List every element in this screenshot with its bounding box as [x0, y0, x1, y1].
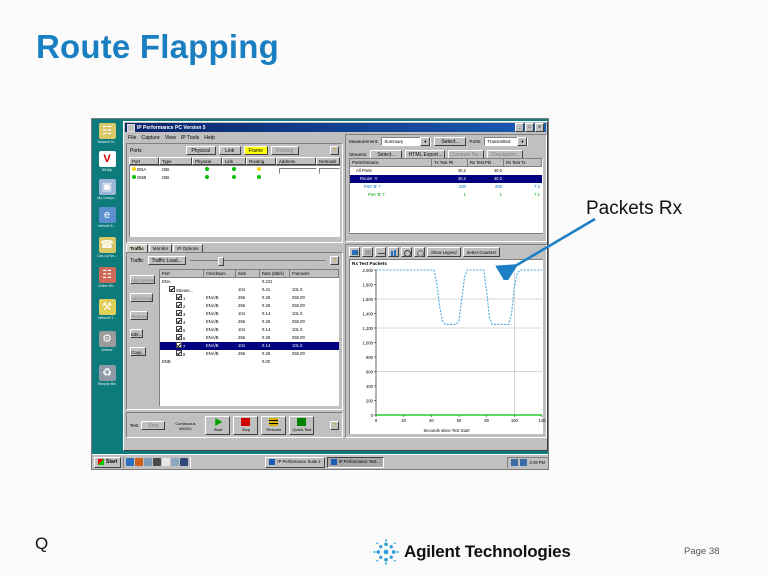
cell-rx: 1	[468, 191, 504, 199]
cell-checksum: ENA/B	[204, 342, 236, 350]
row-checkbox[interactable]	[176, 342, 182, 348]
svg-text:40: 40	[429, 418, 434, 423]
cell-tx: 40,2	[432, 167, 468, 175]
col-ports-streams[interactable]: Ports/Streams	[350, 159, 432, 167]
cell-rate: 0.28	[260, 294, 290, 302]
col-port[interactable]: Port	[129, 157, 159, 165]
ports-toolbar: Ports Physical Link Frame Routing ?	[127, 144, 342, 157]
svg-text:0: 0	[371, 413, 374, 418]
winzip-icon: V	[99, 151, 116, 167]
cell-checksum: ENA/B	[204, 294, 236, 302]
ie-icon[interactable]	[126, 458, 134, 466]
row-checkbox[interactable]	[176, 302, 182, 308]
col-rx-test-pkt[interactable]: Rx Test Pkt	[468, 159, 504, 167]
cell-rate: 0.28	[260, 302, 290, 310]
system-tray: 3:49 PM	[507, 457, 548, 468]
desktop-icon[interactable]: ▣ My Compu...	[95, 179, 119, 200]
desktop-icon[interactable]: ☷ Network N...	[95, 123, 119, 144]
test-state-button[interactable]: Stop	[141, 421, 165, 430]
traffic-toolbar: Traffic Traffic Load... ?	[127, 253, 342, 268]
cell-name: Port 'B' 7	[350, 191, 432, 199]
status-dot-physical	[205, 167, 209, 171]
cell-size: 256	[236, 294, 260, 302]
slider-knob[interactable]	[218, 257, 224, 266]
remove-button[interactable]: Remove	[130, 311, 148, 320]
col-physical[interactable]: Physical	[192, 157, 222, 165]
measurement-select-button[interactable]: Select...	[434, 137, 466, 146]
page-title: Route Flapping	[36, 28, 279, 66]
maximize-button[interactable]: □	[525, 123, 534, 132]
svg-text:1,400: 1,400	[363, 311, 374, 316]
stop-button[interactable]: Stop	[233, 416, 258, 435]
status-dot-link	[232, 175, 236, 179]
traffic-table-body: ENA0.221Stream...1040.41101.01ENA/B2560.…	[160, 278, 339, 366]
streams-label: Streams:	[349, 152, 367, 157]
cell-frames: 101.0	[290, 326, 339, 334]
traffic-pane: Traffic Traffic Load... ? Add Stream Add…	[126, 252, 343, 410]
cell-frames: 250.00	[290, 302, 339, 310]
cell-size: 256	[236, 334, 260, 342]
ports-button-physical[interactable]: Physical	[186, 146, 216, 155]
start-button[interactable]: Start	[205, 416, 230, 435]
cell-rate: 0.00	[260, 358, 290, 366]
svg-text:1,200: 1,200	[363, 326, 374, 331]
col-link[interactable]: Link	[222, 157, 246, 165]
cell-name: Port 'B' 7	[350, 183, 432, 191]
svg-text:1,000: 1,000	[363, 340, 374, 345]
ports-table-header: Port Type Physical Link Routing Address …	[129, 157, 340, 165]
my-computer-icon: ▣	[99, 179, 116, 195]
ports-button-routing[interactable]: Routing	[271, 146, 299, 155]
row-checkbox[interactable]	[176, 310, 182, 316]
cell-port: ENB	[160, 358, 204, 366]
ports-select-label: Ports:	[469, 139, 481, 144]
table-row[interactable]: All Ports40,240,0	[350, 167, 542, 175]
svg-text:20: 20	[401, 418, 406, 423]
network-tray-icon[interactable]	[511, 459, 518, 466]
cell-rxtx: 7.1	[504, 191, 542, 199]
windows-flag-icon	[98, 459, 104, 465]
svg-text:0: 0	[375, 418, 378, 423]
bar-chart-icon[interactable]	[388, 247, 399, 257]
row-checkbox[interactable]	[176, 350, 182, 356]
cell-type: ISB	[160, 166, 193, 174]
ports-table-body: ENA ISB ENB ISB	[129, 165, 340, 237]
ports-label: Ports	[130, 148, 142, 154]
cell-type: ISB	[160, 174, 193, 182]
measurement-select[interactable]: Summary▼	[381, 137, 431, 146]
cell-size: 256	[236, 350, 260, 358]
svg-text:400: 400	[366, 384, 374, 389]
desktop-icon[interactable]: ☎ Dial-Up Ne...	[95, 237, 119, 258]
cell-frames: 250.00	[290, 350, 339, 358]
online-registration-icon: ☷	[99, 267, 116, 283]
clock: 3:49 PM	[529, 460, 545, 465]
recycle-bin-icon: ♻	[99, 365, 116, 381]
media-icon[interactable]	[153, 458, 161, 466]
col-routing[interactable]: Routing	[246, 157, 276, 165]
line-chart-icon[interactable]	[375, 247, 386, 257]
cell-frames: 250.00	[290, 318, 339, 326]
row-checkbox[interactable]	[176, 334, 182, 340]
col-type[interactable]: Type	[159, 157, 192, 165]
svg-text:200: 200	[366, 398, 374, 403]
agilent-logo-icon	[372, 538, 400, 566]
chart-svg: 2,0001,8001,6001,4001,2001,0008006004002…	[350, 260, 546, 437]
app-titlebar[interactable]: IP Performance PC Version 5 _ □ ✕	[125, 123, 546, 132]
col-size[interactable]: Size	[236, 270, 260, 278]
network-neighborhood-icon: ☷	[99, 123, 116, 139]
desktop-icon[interactable]: e Internet E...	[95, 207, 119, 228]
cell-checksum: ENA/B	[204, 326, 236, 334]
q-glyph: Q	[35, 534, 48, 554]
cell-frames: 250.00	[290, 334, 339, 342]
cell-size: 104	[236, 310, 260, 318]
mail-icon[interactable]	[171, 458, 179, 466]
close-button[interactable]: ✕	[535, 123, 544, 132]
table-row[interactable]: Port 'B' 7117.1	[350, 191, 542, 199]
cell-rx: 40,0	[468, 175, 504, 183]
stop-icon	[241, 418, 250, 426]
desktop-icon[interactable]: ⚙ Advisor	[95, 331, 119, 352]
page-number: Page 38	[684, 546, 719, 557]
cell-checksum: ENA/B	[204, 302, 236, 310]
svg-text:100: 100	[511, 418, 519, 423]
row-checkbox[interactable]	[176, 326, 182, 332]
status-dot-link	[232, 167, 236, 171]
remove-trace-icon[interactable]	[362, 247, 373, 257]
dialup-networking-icon: ☎	[99, 237, 116, 253]
svg-text:800: 800	[366, 355, 374, 360]
cell-size: 104	[236, 286, 260, 294]
taskbar-button-active[interactable]: IP Performance Test...	[327, 457, 384, 468]
outlook-icon[interactable]	[135, 458, 143, 466]
quicktest-icon	[297, 418, 306, 426]
play-icon	[213, 418, 222, 426]
traffic-tree-table[interactable]: Port Checksum Size Rate (Mb/s) Frames/s …	[159, 269, 339, 406]
menu-item-help[interactable]: Help	[204, 135, 215, 141]
desktop-icon[interactable]: ⚒ Network T...	[95, 299, 119, 320]
add-group-button[interactable]: Add Group	[130, 293, 153, 302]
desktop-icon[interactable]: V WinZip	[95, 151, 119, 172]
status-dot-physical	[205, 175, 209, 179]
table-row[interactable]: ENB ISB	[130, 174, 340, 182]
desktop-icon[interactable]: ♻ Recycle Bin	[95, 365, 119, 386]
annotation-arrow	[495, 215, 600, 280]
cell-rate: 0.28	[260, 334, 290, 342]
app-icon	[127, 124, 135, 132]
cell-port: ENA	[137, 167, 146, 172]
cell-checksum: ENA/B	[204, 318, 236, 326]
resume-icon	[269, 418, 278, 426]
cell-rate: 0.221	[260, 278, 290, 286]
cell-frames: 101.0	[290, 342, 339, 350]
cell-name: Router 'A'	[350, 175, 432, 183]
col-frames[interactable]: Frames/s	[290, 270, 339, 278]
quick-test-button[interactable]: Quick-Test	[289, 416, 314, 435]
cell-checksum: ENA/B	[204, 310, 236, 318]
show-desktop-icon[interactable]	[144, 458, 152, 466]
resume-button[interactable]: Resume	[261, 416, 286, 435]
add-trace-icon[interactable]: +	[349, 247, 360, 257]
run-control-bar: Test Stop Continuous 000011 Start Stop R…	[126, 412, 343, 438]
cell-checksum: ENA/B	[204, 350, 236, 358]
show-legend-button[interactable]: Show Legend	[427, 247, 461, 257]
col-port[interactable]: Port	[160, 270, 204, 278]
traffic-load-slider[interactable]	[190, 257, 326, 264]
traffic-side-buttons: Add Stream Add Group Remove Edit... Copy…	[130, 269, 156, 359]
table-row[interactable]: Port 'B' 72002007.2	[350, 183, 542, 191]
cell-tx: 1	[432, 191, 468, 199]
svg-text:600: 600	[366, 369, 374, 374]
measurements-table-header: Ports/Streams Tx Test Pk Rx Test Pkt Rx …	[350, 159, 542, 167]
advisor-icon: ⚙	[99, 331, 116, 347]
zoom-out-icon[interactable]	[414, 247, 425, 257]
chevron-down-icon: ▼	[420, 137, 430, 146]
notepad-icon[interactable]	[162, 458, 170, 466]
col-rate[interactable]: Rate (Mb/s)	[260, 270, 290, 278]
app-icon	[269, 459, 275, 465]
col-rx-test-tx[interactable]: Rx Test Tx	[504, 159, 542, 167]
cell-frames: 250.00	[290, 294, 339, 302]
ports-help-icon[interactable]: ?	[330, 146, 339, 155]
taskbar-button-suite[interactable]: IP Performance Suite 2	[265, 457, 324, 468]
cell-tx: 40,2	[432, 175, 468, 183]
cell-size: 104	[236, 342, 260, 350]
app-title: IP Performance PC Version 5	[137, 125, 515, 131]
traffic-help-icon[interactable]: ?	[330, 256, 339, 265]
zoom-in-icon[interactable]	[401, 247, 412, 257]
internet-explorer-icon: e	[99, 207, 116, 223]
brand-name: Agilent Technologies	[404, 542, 571, 562]
svg-text:80: 80	[484, 418, 489, 423]
ports-pane: Ports Physical Link Frame Routing ? Port…	[126, 143, 343, 243]
cell-rx: 200	[468, 183, 504, 191]
cell-port: ENB	[137, 175, 146, 180]
traffic-table-header: Port Checksum Size Rate (Mb/s) Frames/s	[160, 270, 339, 278]
cell-rate: 0.14	[260, 326, 290, 334]
chevron-down-icon: ▼	[517, 137, 527, 146]
menu-item-iptools[interactable]: IP Tools	[181, 135, 199, 141]
cell-rate: 0.28	[260, 318, 290, 326]
test-label: Test	[130, 423, 138, 428]
col-netmask[interactable]: Netmask	[316, 157, 340, 165]
cell-rate: 0.28	[260, 350, 290, 358]
ports-button-frame[interactable]: Frame	[244, 146, 268, 155]
measurements-table-body: All Ports40,240,0Router 'A'40,240,0Port …	[350, 167, 542, 199]
row-checkbox[interactable]	[176, 294, 182, 300]
traffic-label: Traffic	[130, 258, 144, 264]
col-address[interactable]: Address	[276, 157, 316, 165]
chart-xlabel: Seconds since Test Start	[350, 428, 543, 433]
volume-tray-icon[interactable]	[520, 459, 527, 466]
ports-direction-select[interactable]: Transmitted▼	[484, 137, 528, 146]
status-dot-routing	[257, 167, 261, 171]
copy-button[interactable]: Copy...	[130, 347, 146, 356]
menu-item-file[interactable]: File	[128, 135, 136, 141]
menu-item-view[interactable]: View	[165, 135, 176, 141]
annotation-label: Packets Rx	[586, 198, 682, 220]
vnc-icon[interactable]	[180, 458, 188, 466]
start-button-taskbar[interactable]: Start	[94, 457, 121, 468]
run-status-line2: 000011	[168, 426, 202, 431]
table-row[interactable]: 8ENA/B2560.28250.00	[160, 350, 339, 358]
run-help-icon[interactable]: ?	[330, 421, 339, 430]
cell-size: 256	[236, 318, 260, 326]
table-row[interactable]: ENA ISB	[130, 166, 340, 174]
svg-text:60: 60	[457, 418, 462, 423]
svg-text:2,000: 2,000	[363, 268, 374, 273]
svg-text:120: 120	[539, 418, 547, 423]
svg-text:1,600: 1,600	[363, 297, 374, 302]
cell-rate: 0.14	[260, 342, 290, 350]
desktop-icon[interactable]: ☷ Online Re...	[95, 267, 119, 288]
network-tools-icon: ⚒	[99, 299, 116, 315]
application-screenshot: ☷ Network N... V WinZip ▣ My Compu... e …	[91, 118, 549, 470]
col-tx-test-pk[interactable]: Tx Test Pk	[432, 159, 468, 167]
cell-rate: 0.41	[260, 286, 290, 294]
app-icon	[331, 459, 337, 465]
cell-rate: 0.14	[260, 310, 290, 318]
add-stream-button[interactable]: Add Stream	[130, 275, 155, 284]
row-checkbox[interactable]	[176, 318, 182, 324]
app-window: IP Performance PC Version 5 _ □ ✕ File C…	[123, 121, 548, 451]
cell-frames: 101.0	[290, 310, 339, 318]
cell-checksum: ENA/B	[204, 334, 236, 342]
traffic-load-button[interactable]: Traffic Load...	[148, 256, 186, 265]
measurement-label: Measurement:	[349, 139, 378, 144]
ports-button-link[interactable]: Link	[219, 146, 241, 155]
menu-item-capture[interactable]: Capture	[141, 135, 159, 141]
quick-launch-bar	[123, 457, 191, 468]
windows-taskbar: Start IP Performance Suite 2 IP Performa…	[92, 454, 549, 469]
desktop-icon-strip: ☷ Network N... V WinZip ▣ My Compu... e …	[92, 119, 122, 451]
status-dot-routing	[257, 175, 261, 179]
cell-frames: 101.0	[290, 286, 339, 294]
minimize-button[interactable]: _	[515, 123, 524, 132]
cell-tx: 200	[432, 183, 468, 191]
cell-size: 256	[236, 302, 260, 310]
chart-plot-area[interactable]: Rx Test Packets 2,0001,8001,6001,4001,20…	[349, 259, 543, 434]
row-checkbox[interactable]	[169, 286, 175, 292]
cell-name: All Ports	[350, 167, 432, 175]
table-row[interactable]: Router 'A'40,240,0	[350, 175, 542, 183]
col-checksum[interactable]: Checksum	[204, 270, 236, 278]
cell-rx: 40,0	[468, 167, 504, 175]
svg-text:1,800: 1,800	[363, 282, 374, 287]
edit-button[interactable]: Edit...	[130, 329, 143, 338]
cell-size: 104	[236, 326, 260, 334]
table-row[interactable]: ENB0.00	[160, 358, 339, 366]
cell-rxtx: 7.2	[504, 183, 542, 191]
